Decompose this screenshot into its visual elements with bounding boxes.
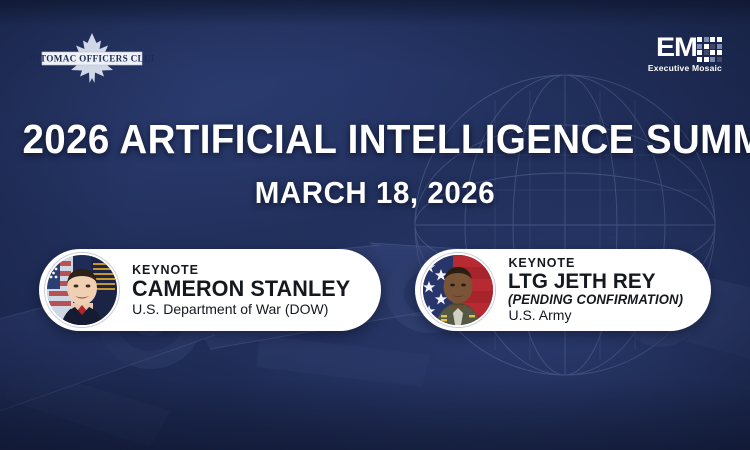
speaker-pending-note: (PENDING CONFIRMATION) — [508, 292, 683, 307]
em-mark: EM — [656, 34, 722, 61]
event-promo-banner: POTOMAC OFFICERS CLUB EM Executive Mosai… — [0, 0, 750, 450]
speaker-kicker: KEYNOTE — [508, 256, 688, 270]
speaker-text: KEYNOTE CAMERON STANLEY U.S. Department … — [132, 263, 359, 318]
speaker-text: KEYNOTE LTG JETH REY (PENDING CONFIRMATI… — [508, 256, 688, 324]
top-shade — [0, 0, 750, 26]
potomac-officers-club-logo[interactable]: POTOMAC OFFICERS CLUB — [30, 30, 154, 86]
bottom-shade — [0, 380, 750, 450]
speaker-card[interactable]: KEYNOTE CAMERON STANLEY U.S. Department … — [39, 249, 381, 331]
speaker-name: CAMERON STANLEY — [132, 277, 350, 301]
speaker-organization: U.S. Army — [508, 307, 688, 324]
speaker-card[interactable]: KEYNOTE LTG JETH REY (PENDING CONFIRMATI… — [415, 249, 710, 331]
speaker-kicker: KEYNOTE — [132, 263, 359, 277]
portrait-cameron-stanley — [45, 253, 119, 327]
speaker-name: LTG JETH REY — [508, 270, 681, 292]
speaker-organization: U.S. Department of War (DOW) — [132, 301, 359, 318]
em-letters: EM — [656, 34, 697, 60]
portrait-ltg-jeth-rey — [421, 253, 495, 327]
poc-logo-wordmark: POTOMAC OFFICERS CLUB — [30, 54, 154, 64]
executive-mosaic-logo[interactable]: EM Executive Mosaic — [636, 34, 722, 78]
em-wordmark: Executive Mosaic — [648, 63, 722, 73]
event-date: MARCH 18, 2026 — [19, 176, 732, 210]
mosaic-grid-icon — [697, 37, 722, 62]
page-title: 2026 ARTIFICIAL INTELLIGENCE SUMMIT — [23, 117, 728, 161]
speaker-card-list: KEYNOTE CAMERON STANLEY U.S. Department … — [0, 249, 750, 331]
